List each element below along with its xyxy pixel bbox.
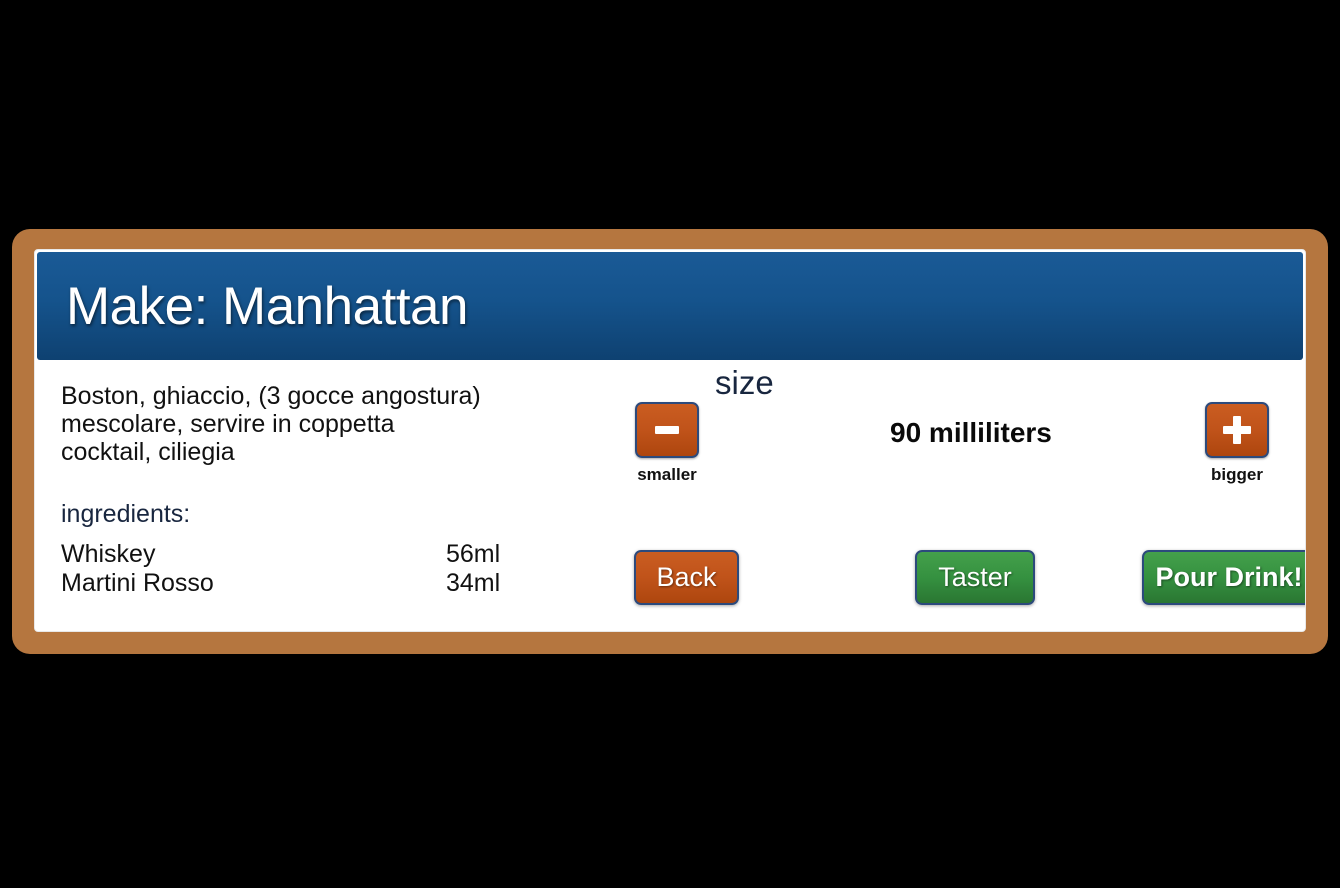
recipe-description: Boston, ghiaccio, (3 gocce angostura) me… [61,382,601,466]
title-bar: Make: Manhattan [37,252,1303,360]
device-frame: Make: Manhattan Boston, ghiaccio, (3 goc… [12,229,1328,654]
taster-button[interactable]: Taster [915,550,1035,605]
ingredient-row: Martini Rosso 34ml [61,569,601,598]
pour-drink-button[interactable]: Pour Drink! [1142,550,1306,605]
page-title: Make: Manhattan [66,276,468,337]
ingredients-heading: ingredients: [61,500,601,528]
decrease-size-button[interactable] [635,402,699,458]
content-area: Boston, ghiaccio, (3 gocce angostura) me… [35,362,1305,631]
ingredient-row: Whiskey 56ml [61,540,601,569]
ingredients-list: Whiskey 56ml Martini Rosso 34ml [61,540,601,598]
screen: Make: Manhattan Boston, ghiaccio, (3 goc… [34,249,1306,632]
decrease-size-control: smaller [635,402,699,485]
ingredient-amount: 56ml [446,540,596,569]
decrease-size-caption: smaller [637,465,697,485]
plus-icon [1223,416,1251,444]
ingredient-amount: 34ml [446,569,596,598]
recipe-panel: Boston, ghiaccio, (3 gocce angostura) me… [61,382,601,598]
size-label: size [715,365,774,401]
increase-size-control: bigger [1205,402,1269,485]
increase-size-caption: bigger [1211,465,1263,485]
ingredient-name: Whiskey [61,540,446,569]
ingredient-name: Martini Rosso [61,569,446,598]
minus-icon [655,426,679,434]
increase-size-button[interactable] [1205,402,1269,458]
back-button[interactable]: Back [634,550,739,605]
app-root: Make: Manhattan Boston, ghiaccio, (3 goc… [0,0,1340,888]
size-value: 90 milliliters [890,417,1052,449]
